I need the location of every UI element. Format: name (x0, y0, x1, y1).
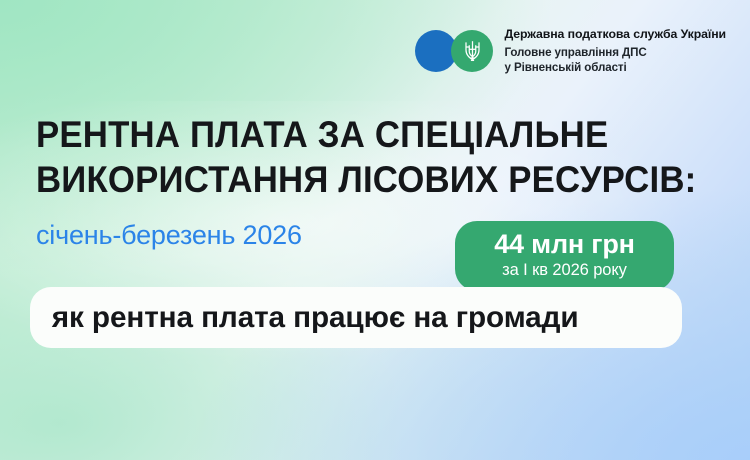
dps-logo (415, 30, 493, 72)
page-title-line-1: РЕНТНА ПЛАТА ЗА СПЕЦІАЛЬНЕ (36, 112, 685, 157)
org-title-line-3: у Рівненській області (504, 60, 726, 75)
organization-name-block: Державна податкова служба України Головн… (504, 27, 726, 75)
organization-header: Державна податкова служба України Головн… (415, 27, 726, 75)
reporting-period-label: січень-березень 2026 (36, 221, 302, 251)
amount-caption: за I кв 2026 року (502, 261, 627, 280)
ukraine-trident-icon (463, 39, 482, 63)
page-title: РЕНТНА ПЛАТА ЗА СПЕЦІАЛЬНЕ ВИКОРИСТАННЯ … (36, 112, 726, 202)
tagline-pill: як рентна плата працює на громади (30, 287, 682, 348)
tagline-text: як рентна плата працює на громади (30, 301, 579, 335)
green-circle-mark (451, 30, 493, 72)
org-title-line-1: Державна податкова служба України (504, 27, 726, 42)
infographic-poster: Державна податкова служба України Головн… (0, 0, 750, 460)
page-title-line-2: ВИКОРИСТАННЯ ЛІСОВИХ РЕСУРСІВ: (36, 157, 685, 202)
org-title-line-2: Головне управління ДПС (504, 45, 726, 60)
amount-value: 44 млн грн (494, 230, 635, 259)
amount-badge: 44 млн грн за I кв 2026 року (455, 221, 674, 291)
